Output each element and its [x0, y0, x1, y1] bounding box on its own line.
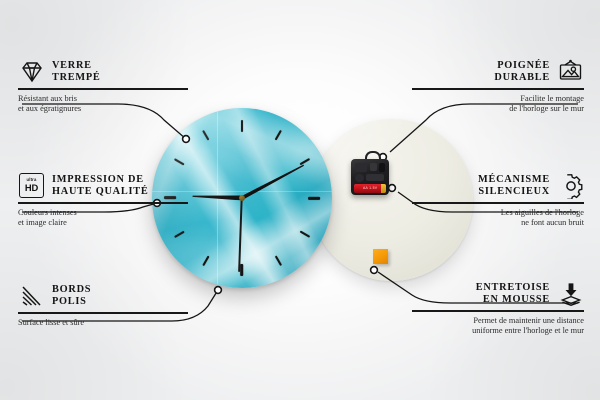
mechanism-detail	[379, 163, 385, 172]
feature-description: Surface lisse et sûre	[18, 318, 188, 328]
feature-title-line1: VERRE	[52, 60, 92, 71]
feature-divider	[412, 202, 584, 204]
feature-verre-trempe: VERRE TREMPÉ Résistant aux bris et aux é…	[18, 58, 188, 114]
feature-title-line2: TREMPÉ	[52, 72, 101, 83]
battery-tip	[381, 184, 386, 193]
feature-title-line1: BORDS	[52, 284, 91, 295]
mechanism-detail	[370, 163, 377, 171]
feature-title-line2: SILENCIEUX	[478, 186, 550, 197]
feature-divider	[18, 312, 188, 314]
feature-description: Résistant aux bris et aux égratignures	[18, 94, 188, 114]
feature-title-line1: ENTRETOISE	[476, 282, 550, 293]
feature-divider	[18, 202, 188, 204]
arrow-down-onto-stack-icon	[557, 280, 584, 307]
feature-description: Facilite le montage de l'horloge sur le …	[412, 94, 584, 114]
feature-divider	[18, 88, 188, 90]
mechanism-detail	[355, 163, 367, 172]
ultra-hd-badge-icon: ultra HD	[18, 172, 45, 199]
feature-desc-line1: Facilite le montage	[520, 94, 584, 103]
feature-desc-line1: Les aiguilles de l'horloge	[501, 208, 584, 217]
feature-desc-line1: Surface lisse et sûre	[18, 318, 84, 327]
feature-entretoise-en-mousse: ENTRETOISE EN MOUSSE Permet de maintenir…	[412, 280, 584, 336]
feature-title-line2: EN MOUSSE	[483, 294, 550, 305]
feature-title: VERRE TREMPÉ	[52, 60, 101, 83]
feature-title: ENTRETOISE EN MOUSSE	[476, 282, 550, 305]
feature-description: Les aiguilles de l'horloge ne font aucun…	[412, 208, 584, 228]
hanging-picture-frame-icon	[557, 58, 584, 85]
feature-title-line2: DURABLE	[494, 72, 550, 83]
feature-description: Couleurs intenses et image claire	[18, 208, 188, 228]
feature-impression-haute-qualite: ultra HD IMPRESSION DE HAUTE QUALITÉ Cou…	[18, 172, 188, 228]
polished-edge-lines-icon	[18, 282, 45, 309]
feature-title-line2: POLIS	[52, 296, 87, 307]
feature-bords-polis: BORDS POLIS Surface lisse et sûre	[18, 282, 188, 328]
feature-mecanisme-silencieux: MÉCANISME SILENCIEUX Les aiguilles de l'…	[412, 172, 584, 228]
feature-title: MÉCANISME SILENCIEUX	[478, 174, 550, 197]
gear-icon	[557, 172, 584, 199]
diamond-icon	[18, 58, 45, 85]
mechanism-detail	[366, 174, 384, 181]
feature-title-line1: IMPRESSION DE	[52, 174, 144, 185]
feature-divider	[412, 310, 584, 312]
feature-poignee-durable: POIGNÉE DURABLE Facilite le montage de l…	[412, 58, 584, 114]
infographic-canvas: AA 1.5V	[0, 0, 600, 400]
foam-spacer-part	[373, 249, 388, 264]
feature-desc-line1: Résistant aux bris	[18, 94, 77, 103]
mechanism-detail	[355, 174, 364, 182]
ultra-hd-large-text: HD	[25, 183, 38, 192]
feature-desc-line1: Couleurs intenses	[18, 208, 77, 217]
feature-title: POIGNÉE DURABLE	[494, 60, 550, 83]
feature-desc-line1: Permet de maintenir une distance	[473, 316, 584, 325]
feature-desc-line2: et aux égratignures	[18, 104, 81, 113]
feature-desc-line2: de l'horloge sur le mur	[509, 104, 584, 113]
battery-label: AA 1.5V	[363, 186, 377, 190]
feature-title-line2: HAUTE QUALITÉ	[52, 186, 148, 197]
feature-description: Permet de maintenir une distance uniform…	[412, 316, 584, 336]
feature-divider	[412, 88, 584, 90]
quartz-mechanism-part: AA 1.5V	[351, 159, 389, 195]
feature-title-line1: MÉCANISME	[478, 174, 550, 185]
feature-desc-line2: ne font aucun bruit	[521, 218, 584, 227]
battery-part: AA 1.5V	[354, 184, 386, 193]
feature-title-line1: POIGNÉE	[497, 60, 550, 71]
feature-desc-line2: et image claire	[18, 218, 67, 227]
feature-title: IMPRESSION DE HAUTE QUALITÉ	[52, 174, 148, 197]
feature-title: BORDS POLIS	[52, 284, 91, 307]
feature-desc-line2: uniforme entre l'horloge et le mur	[472, 326, 584, 335]
